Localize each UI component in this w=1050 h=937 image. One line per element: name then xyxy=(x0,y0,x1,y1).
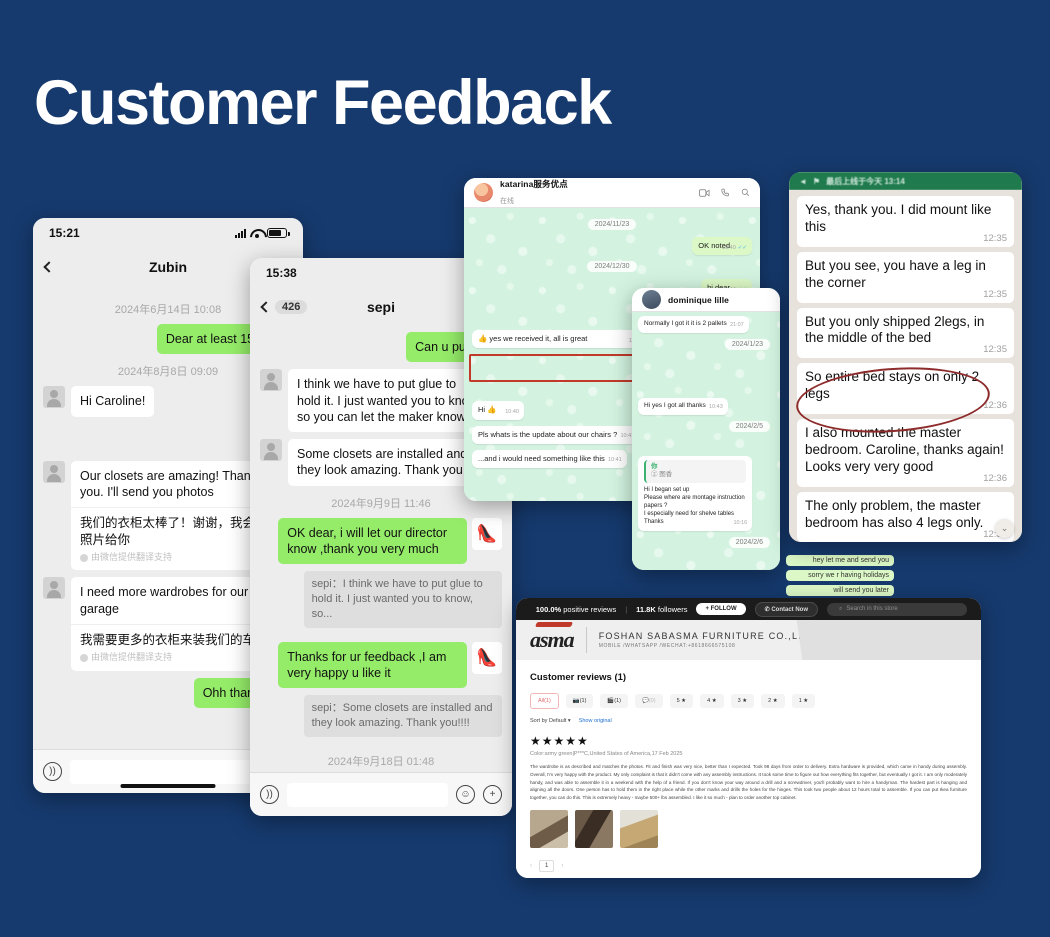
avatar xyxy=(260,439,282,461)
message-time: 12:36 xyxy=(983,400,1007,412)
message-bubble-in: Pls whats is the update about our chairs… xyxy=(472,426,639,444)
filter-chip-4star[interactable]: 4 ★ xyxy=(700,694,724,708)
quoted-message: sepi：I think we have to put glue to hold… xyxy=(304,571,502,628)
contact-status: 在线 xyxy=(500,198,514,205)
message-bubble-in: I think we have to put glue to hold it. … xyxy=(288,369,491,432)
message-list: Yes, thank you. I did mount like this12:… xyxy=(789,190,1022,542)
message-time: 10:43 xyxy=(709,404,723,411)
chat-header: katarina服务优点 在线 xyxy=(464,178,760,208)
translated-text: 我需要更多的衣柜来装我们的车库 xyxy=(80,633,268,647)
message-input[interactable] xyxy=(70,760,266,784)
status-time: 15:38 xyxy=(266,266,297,280)
show-original-link[interactable]: Show original xyxy=(579,718,612,724)
chat-header: ◄ ⚑ 最后上线于今天 13:14 xyxy=(789,172,1022,190)
sort-row: Sort by Default ▾ Show original xyxy=(530,718,967,724)
highlight-box xyxy=(469,354,650,382)
divider xyxy=(586,627,587,653)
message-row: OK noted19:40 xyxy=(472,237,752,255)
search-icon: ⌕ xyxy=(839,606,842,613)
reviews-pagination: ‹ 1 › xyxy=(530,860,967,872)
phone-call-icon[interactable] xyxy=(721,188,730,197)
video-call-icon[interactable] xyxy=(699,189,710,197)
store-logo: asma xyxy=(530,627,574,653)
chat-title: Zubin xyxy=(149,259,187,275)
chat-icon: ✆ xyxy=(765,607,770,613)
filter-chip-5star[interactable]: 5 ★ xyxy=(670,694,694,708)
chat-title: sepi xyxy=(367,299,395,315)
message-bubble: Yes, thank you. I did mount like this12:… xyxy=(797,196,1014,247)
contact-now-button[interactable]: ✆ Contact Now xyxy=(755,602,818,617)
store-topbar: 100.0% positive reviews | 11.8K follower… xyxy=(516,598,981,620)
message-bubble-in: ...and i would need something like this1… xyxy=(472,450,627,468)
quote-block: 你 ② 图香 xyxy=(644,460,746,484)
rating-stars: ★★★★★ xyxy=(530,734,967,748)
store-search-input[interactable]: ⌕Search in this store xyxy=(827,603,967,616)
chevron-down-icon: ▾ xyxy=(568,718,571,724)
filter-chip-photos[interactable]: 📷(1) xyxy=(566,694,594,708)
message-timestamp: 2024年9月18日 01:48 xyxy=(260,753,502,769)
avatar xyxy=(43,577,65,599)
message-bubble-highlighted: 👍 yes we received it, all is great11:29 xyxy=(472,330,647,348)
brand-swoosh xyxy=(796,620,981,660)
message-bubble-out: OK dear, i will let our director know ,t… xyxy=(278,518,467,565)
filter-chip-1star[interactable]: 1 ★ xyxy=(792,694,816,708)
message-text: Hi I began set up Please where are monta… xyxy=(644,487,745,525)
page-title: Customer Feedback xyxy=(34,72,611,135)
page-number[interactable]: 1 xyxy=(539,860,554,872)
message-bubble: But you see, you have a leg in the corne… xyxy=(797,252,1014,303)
filter-chip-3star[interactable]: 3 ★ xyxy=(731,694,755,708)
message-bubble-in: Hi Caroline! xyxy=(71,386,154,416)
message-bubble-out: OK noted19:40 xyxy=(692,237,752,255)
chevron-left-icon[interactable]: ‹ xyxy=(530,863,532,869)
avatar xyxy=(43,386,65,408)
message-row: OK dear, i will let our director know ,t… xyxy=(260,518,502,565)
review-meta: Color:army green|P***C,United States of … xyxy=(530,751,967,757)
battery-icon xyxy=(267,228,287,238)
message-bubble-out: hey let me and send you xyxy=(786,555,894,566)
date-separator: 2024/12/30 xyxy=(587,261,636,272)
message-time: 12:35 xyxy=(983,233,1007,245)
chat-header: dominique lille xyxy=(632,288,780,312)
flag-icon: ⚑ xyxy=(813,177,820,186)
back-chevron-icon[interactable]: 426 xyxy=(262,300,307,314)
filter-chip-comments[interactable]: 💬(0) xyxy=(635,694,663,708)
contact-name: katarina服务优点 xyxy=(500,178,568,190)
message-time: 19:40 xyxy=(722,245,747,252)
alibaba-store-panel: 100.0% positive reviews | 11.8K follower… xyxy=(516,598,981,878)
status-time: 15:21 xyxy=(49,226,80,240)
message-row: Normally I got it it is 2 pallets21:07 xyxy=(638,316,774,333)
message-bubble: So entire bed stays on only 2 legs12:36 xyxy=(797,363,1014,414)
message-bubble-in: Hi 👍10:40 xyxy=(472,401,524,419)
message-bubble-in: Some closets are installed and they look… xyxy=(288,439,491,486)
back-icon[interactable]: ◄ xyxy=(799,177,807,186)
filter-chip-videos[interactable]: 🎬(1) xyxy=(600,694,628,708)
header-status: 最后上线于今天 13:14 xyxy=(826,176,905,187)
message-bubble-out: will send you later xyxy=(786,585,894,596)
chevron-down-icon[interactable]: ⌄ xyxy=(995,519,1014,538)
follow-button[interactable]: + FOLLOW xyxy=(696,603,745,615)
date-separator: 2024/1/23 xyxy=(725,339,770,350)
avatar xyxy=(43,461,65,483)
message-bubble-in: Hi yes I got all thanks10:43 xyxy=(638,398,728,415)
voice-icon[interactable]: )) xyxy=(43,762,62,781)
message-row: 你 ② 图香 Hi I began set up Please where ar… xyxy=(638,456,774,531)
message-input[interactable] xyxy=(287,783,448,807)
unread-badge: 426 xyxy=(275,300,307,314)
review-photo-1[interactable] xyxy=(530,810,568,848)
contact-name: dominique lille xyxy=(668,295,729,305)
message-row: Thanks for ur feedback ,I am very happy … xyxy=(260,642,502,689)
voice-icon[interactable]: )) xyxy=(260,785,279,804)
review-photo-3[interactable] xyxy=(620,810,658,848)
sticker-icon: 👠 xyxy=(472,642,502,674)
chevron-right-icon[interactable]: › xyxy=(561,863,563,869)
message-time: 10:16 xyxy=(733,520,747,527)
chat-panel-bed: ◄ ⚑ 最后上线于今天 13:14 Yes, thank you. I did … xyxy=(789,172,1022,542)
message-row: sepi：Some closets are installed and they… xyxy=(260,695,502,744)
avatar xyxy=(474,183,493,202)
reviews-section: Customer reviews (1) All(1) 📷(1) 🎬(1) 💬(… xyxy=(516,660,981,878)
date-separator: 2024/2/5 xyxy=(729,421,770,432)
poster-canvas: Customer Feedback 15:21 Zubin 2024年6月14日… xyxy=(0,0,1050,937)
date-separator: 2024/11/23 xyxy=(588,219,637,230)
message-bubble: The only problem, the master bedroom has… xyxy=(797,492,1014,542)
divider: | xyxy=(625,605,627,614)
status-bar: 15:21 xyxy=(33,218,303,248)
message-time: 10:40 xyxy=(505,409,519,416)
followers-count: 11.8K followers xyxy=(636,605,687,614)
message-row: Hi yes I got all thanks10:43 xyxy=(638,398,774,415)
sort-by-select[interactable]: Sort by Default ▾ xyxy=(530,718,571,724)
date-separator: 2024/2/6 xyxy=(729,537,770,548)
translation-note: 由微信提供翻译支持 xyxy=(80,552,277,564)
whatsapp-panel-dominique: dominique lille Normally I got it it is … xyxy=(632,288,780,570)
message-bubble-out: Thanks for ur feedback ,I am very happy … xyxy=(278,642,467,689)
message-time: 12:35 xyxy=(983,344,1007,356)
message-bubble: But you only shipped 2legs, in the middl… xyxy=(797,308,1014,359)
filter-chip-2star[interactable]: 2 ★ xyxy=(761,694,785,708)
message-time: 10:41 xyxy=(608,457,622,464)
reviews-heading: Customer reviews (1) xyxy=(530,672,967,683)
filter-chip-all[interactable]: All(1) xyxy=(530,693,559,709)
store-brand-bar: asma FOSHAN SABASMA FURNITURE CO.,LIMITE… xyxy=(516,620,981,660)
signal-icon xyxy=(235,229,246,238)
message-time: 12:35 xyxy=(983,289,1007,301)
mini-chat-fragment: hey let me and send you sorry we r havin… xyxy=(786,555,894,596)
message-time: 12:36 xyxy=(983,473,1007,485)
back-chevron-icon[interactable] xyxy=(45,263,53,271)
review-photo-2[interactable] xyxy=(575,810,613,848)
chat-input-bar[interactable]: )) ☺ + xyxy=(250,772,512,816)
avatar-icon xyxy=(642,290,661,309)
review-body: The wardrobe is as described and matches… xyxy=(530,763,967,802)
message-list: Normally I got it it is 2 pallets21:07 2… xyxy=(632,312,780,570)
plus-icon[interactable]: + xyxy=(483,785,502,804)
message-time: 21:07 xyxy=(730,322,744,329)
review-item: ★★★★★ Color:army green|P***C,United Stat… xyxy=(530,734,967,848)
emoji-icon[interactable]: ☺ xyxy=(456,785,475,804)
wifi-icon xyxy=(250,228,263,238)
avatar xyxy=(260,369,282,391)
translated-text: 我们的衣柜太棒了！谢谢，我会发照片给你 xyxy=(80,516,268,546)
message-bubble-out: sorry we r having holidays xyxy=(786,570,894,581)
message-bubble-in: Normally I got it it is 2 pallets21:07 xyxy=(638,316,749,333)
positive-reviews: 100.0% positive reviews xyxy=(536,605,616,614)
translation-note: 由微信提供翻译支持 xyxy=(80,652,277,664)
review-filter-chips: All(1) 📷(1) 🎬(1) 💬(0) 5 ★ 4 ★ 3 ★ 2 ★ 1 … xyxy=(530,693,967,709)
message-bubble-quoted: 你 ② 图香 Hi I began set up Please where ar… xyxy=(638,456,752,531)
search-icon[interactable] xyxy=(741,188,750,197)
quoted-message: sepi：Some closets are installed and they… xyxy=(304,695,502,737)
sticker-icon: 👠 xyxy=(472,518,502,550)
message-row: sepi：I think we have to put glue to hold… xyxy=(260,571,502,635)
message-bubble-highlighted: I also mounted the master bedroom. Carol… xyxy=(797,419,1014,487)
review-photos xyxy=(530,810,967,848)
home-indicator xyxy=(121,784,216,788)
